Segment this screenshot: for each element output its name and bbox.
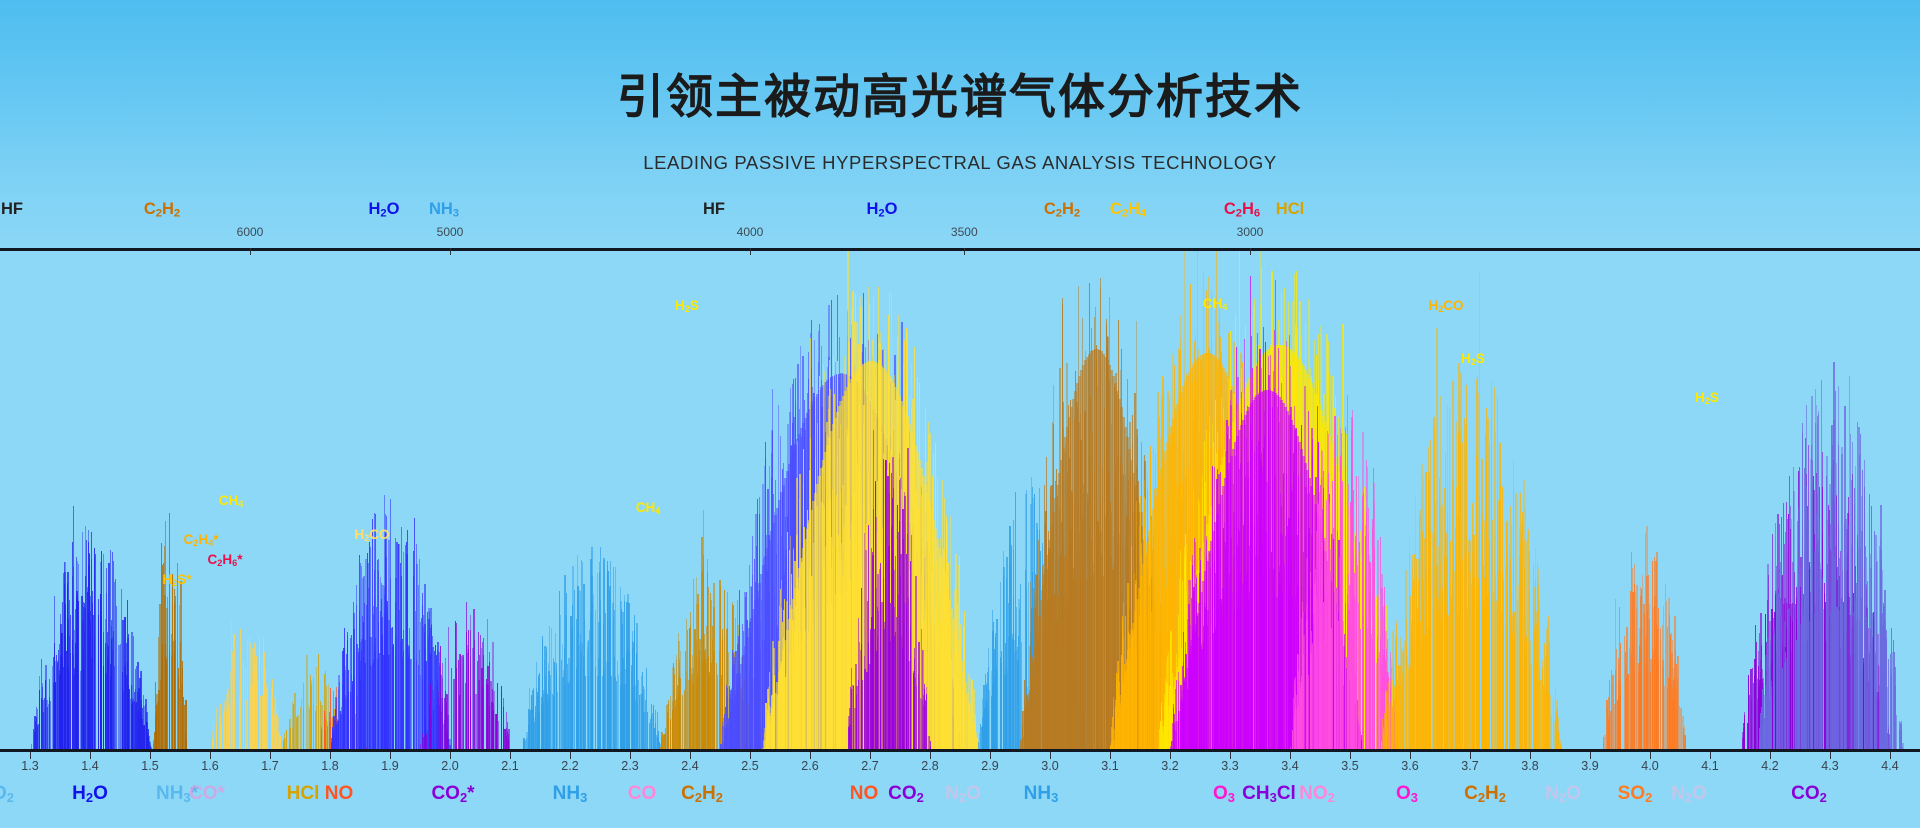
spectral-line <box>672 701 673 749</box>
spectral-line <box>583 584 585 749</box>
spectral-line <box>292 728 293 749</box>
spectral-line <box>347 700 348 749</box>
spectral-line <box>615 567 616 749</box>
spectral-line <box>105 643 106 749</box>
spectral-line <box>401 576 402 749</box>
spectral-line <box>403 552 404 749</box>
spectral-line <box>313 678 314 749</box>
spectral-line <box>472 648 474 749</box>
spectral-line <box>699 650 700 749</box>
spectral-line <box>1005 675 1007 749</box>
spectral-line <box>293 706 294 749</box>
spectral-line <box>139 694 140 749</box>
spectral-line <box>628 648 629 749</box>
spectral-line <box>387 607 388 750</box>
spectral-line <box>914 648 915 749</box>
spectral-line <box>363 622 364 750</box>
spectral-line <box>350 638 351 749</box>
spectral-line <box>101 616 102 749</box>
spectral-line <box>171 634 172 749</box>
spectral-line <box>155 723 156 749</box>
spectral-line <box>240 629 241 749</box>
spectral-line <box>220 704 221 750</box>
spectral-line <box>588 640 589 750</box>
spectral-line <box>327 726 328 749</box>
spectral-line <box>637 703 638 749</box>
spectral-line <box>378 571 379 749</box>
spectral-line <box>90 596 91 749</box>
spectral-line <box>498 721 499 749</box>
spectral-line <box>425 728 426 749</box>
spectral-line <box>696 604 697 750</box>
spectral-line <box>289 729 291 749</box>
spectral-line <box>54 695 56 749</box>
spectral-line <box>369 658 370 749</box>
spectral-line <box>429 723 430 749</box>
spectral-line <box>1001 651 1002 749</box>
spectral-line <box>674 668 675 749</box>
spectral-line <box>506 712 507 749</box>
spectral-line <box>423 615 424 749</box>
spectral-line <box>570 663 571 750</box>
spectral-line <box>448 627 449 749</box>
spectral-line <box>300 707 301 749</box>
spectral-line <box>482 642 483 750</box>
spectral-line <box>233 700 234 750</box>
spectral-line <box>489 652 490 750</box>
spectral-line <box>567 664 568 750</box>
spectral-line <box>70 653 71 749</box>
spectral-line <box>267 686 268 749</box>
spectral-line <box>410 659 411 749</box>
spectral-line <box>179 689 180 749</box>
spectral-line <box>303 683 304 749</box>
spectral-line <box>159 604 161 749</box>
spectral-line <box>545 676 546 749</box>
spectral-line <box>385 636 386 749</box>
spectral-line <box>418 665 419 749</box>
spectral-line <box>422 733 423 749</box>
spectral-line <box>415 611 416 749</box>
spectral-line <box>337 721 339 749</box>
spectral-line <box>556 665 557 749</box>
spectral-line <box>901 636 902 749</box>
spectral-line <box>413 638 414 749</box>
spectral-line <box>679 659 680 749</box>
spectral-line <box>535 706 536 750</box>
spectral-line <box>501 691 502 749</box>
spectral-line <box>46 700 48 750</box>
spectral-line <box>893 607 895 749</box>
spectral-line <box>463 657 464 749</box>
spectral-line <box>354 676 355 749</box>
spectral-line <box>34 716 36 749</box>
spectra-chart: 60005000400035003000 1.31.41.51.61.71.81… <box>0 200 1920 828</box>
spectral-line <box>646 668 647 749</box>
spectral-line <box>861 658 862 749</box>
header: 引领主被动高光谱气体分析技术 LEADING PASSIVE HYPERSPEC… <box>0 0 1920 200</box>
spectral-line <box>143 725 145 750</box>
spectral-line <box>227 689 229 749</box>
spectral-line <box>924 684 925 749</box>
spectral-line <box>693 685 694 750</box>
spectral-line <box>44 698 45 749</box>
spectral-line <box>231 645 232 749</box>
spectral-line <box>283 740 284 749</box>
spectral-line <box>653 715 654 749</box>
spectral-line <box>664 735 665 749</box>
spectral-line <box>466 602 467 749</box>
spectral-line <box>67 587 68 749</box>
spectral-line <box>687 630 688 749</box>
spectral-line <box>658 738 659 750</box>
spectral-line <box>114 666 115 749</box>
spectral-line <box>533 696 534 749</box>
spectral-line <box>340 711 341 749</box>
spectral-line <box>247 640 248 749</box>
spectral-line <box>172 655 173 749</box>
spectral-line <box>252 671 253 749</box>
spectral-line <box>593 594 594 749</box>
spectral-line <box>878 611 879 749</box>
spectral-line <box>263 655 264 749</box>
spectral-line <box>707 572 708 750</box>
spectral-line <box>85 609 86 749</box>
spectral-line <box>125 663 126 749</box>
spectral-line <box>271 699 272 749</box>
spectral-line <box>618 675 619 749</box>
spectral-line <box>374 570 375 749</box>
spectral-line <box>461 656 462 749</box>
spectral-line <box>982 725 983 749</box>
spectral-line <box>600 619 601 749</box>
spectral-line <box>1009 526 1011 749</box>
spectral-line <box>49 697 50 749</box>
spectral-line <box>458 660 459 749</box>
spectral-line <box>169 513 170 749</box>
spectral-line <box>717 675 718 749</box>
spectral-line <box>382 634 383 749</box>
spectral-line <box>508 740 509 749</box>
spectral-line <box>257 678 258 749</box>
spectral-line <box>388 540 390 750</box>
spectral-line <box>560 615 561 750</box>
spectral-line <box>115 579 116 749</box>
spectral-line <box>329 722 330 749</box>
spectral-line <box>121 589 122 749</box>
spectral-line <box>853 686 854 749</box>
spectral-line <box>395 602 396 749</box>
spectral-line <box>216 724 217 749</box>
spectral-line <box>868 643 869 749</box>
spectral-line <box>77 561 78 749</box>
spectral-line <box>496 714 497 749</box>
spectral-line <box>539 673 540 749</box>
spectral-line <box>92 591 93 749</box>
spectral-line <box>650 719 651 749</box>
spectral-line <box>161 654 163 749</box>
spectral-line <box>148 733 149 749</box>
spectral-line <box>127 678 128 749</box>
spectral-line <box>456 623 457 749</box>
spectral-line <box>548 701 549 749</box>
spectral-line <box>88 614 89 749</box>
spectral-line <box>311 685 312 749</box>
spectral-line <box>541 697 543 749</box>
spectral-line <box>285 738 286 750</box>
spectral-line <box>352 685 353 749</box>
spectral-line <box>988 710 989 749</box>
spectral-line <box>212 742 214 749</box>
spectral-line <box>647 712 648 750</box>
spectral-line <box>356 605 357 749</box>
spectral-line <box>551 628 552 750</box>
spectral-line <box>571 628 572 749</box>
spectral-line <box>447 694 448 749</box>
spectral-line <box>63 573 64 749</box>
spectral-line <box>275 695 276 750</box>
spectral-line <box>523 738 525 749</box>
spectral-line <box>131 704 133 750</box>
spectral-line <box>689 628 691 749</box>
spectral-line <box>333 733 334 749</box>
spectral-line <box>906 656 907 749</box>
spectral-line <box>920 698 921 749</box>
spectral-line <box>576 667 577 749</box>
spectral-line <box>667 712 668 749</box>
spectral-line <box>985 717 986 749</box>
spectral-line <box>480 635 481 749</box>
spectral-line <box>1016 650 1017 749</box>
spectral-line <box>1019 609 1020 749</box>
spectral-line <box>332 738 333 749</box>
spectral-line <box>885 460 887 749</box>
poster-root: 引领主被动高光谱气体分析技术 LEADING PASSIVE HYPERSPEC… <box>0 0 1920 828</box>
spectral-line <box>873 430 874 750</box>
spectral-line <box>870 629 871 749</box>
spectral-line <box>911 535 912 749</box>
spectral-line <box>59 644 60 750</box>
spectral-line <box>174 603 175 749</box>
spectral-line <box>916 686 917 749</box>
spectral-line <box>37 709 38 749</box>
spectral-line <box>259 642 260 749</box>
spectral-line <box>564 686 565 749</box>
spectral-line <box>468 649 469 749</box>
spectral-line <box>670 719 671 749</box>
spectral-line <box>580 651 582 749</box>
spectral-line <box>431 716 432 749</box>
spectral-line <box>185 732 186 749</box>
spectral-line <box>433 710 434 749</box>
spectral-line <box>279 736 281 749</box>
spectral-line <box>595 610 596 749</box>
spectral-line <box>572 605 573 749</box>
spectral-line <box>1000 657 1001 749</box>
spectral-line <box>39 690 40 749</box>
spectral-line <box>442 663 443 750</box>
spectral-line <box>64 572 66 749</box>
spectral-line <box>42 683 43 749</box>
spectral-line <box>73 675 75 749</box>
spectral-line <box>651 716 652 750</box>
spectral-line <box>249 637 250 749</box>
spectral-line <box>553 658 554 749</box>
spectral-line <box>493 703 494 749</box>
spectral-line <box>621 609 622 749</box>
spectral-line <box>881 602 883 749</box>
spectral-line <box>297 716 298 749</box>
spectral-line <box>633 687 634 749</box>
spectral-line <box>60 686 62 749</box>
spectral-line <box>574 590 575 749</box>
spectra-plot-area <box>0 251 1920 749</box>
spectral-line <box>702 662 704 749</box>
spectral-line <box>978 742 979 750</box>
spectral-line <box>875 481 876 749</box>
spectral-line <box>243 676 244 749</box>
spectral-line <box>175 640 176 749</box>
spectral-line <box>537 692 538 749</box>
spectral-line <box>682 695 683 749</box>
spectral-line <box>609 618 611 749</box>
spectral-line <box>605 613 606 749</box>
spectral-line <box>453 679 455 750</box>
spectral-line <box>406 645 408 749</box>
spectral-line <box>992 631 994 749</box>
spectral-line <box>607 561 608 749</box>
spectral-line <box>474 640 475 749</box>
spectral-line <box>624 691 625 749</box>
spectral-line <box>1015 633 1016 749</box>
spectral-line <box>603 560 605 749</box>
spectral-line <box>113 631 114 749</box>
spectral-line <box>996 672 997 749</box>
spectral-line <box>140 671 141 749</box>
page-title: 引领主被动高光谱气体分析技术 <box>0 58 1920 127</box>
spectral-line <box>110 664 112 749</box>
spectral-line <box>252 648 254 750</box>
spectral-line <box>611 676 612 749</box>
spectral-line <box>154 732 155 749</box>
spectral-line <box>439 705 440 749</box>
spectral-line <box>166 665 167 749</box>
spectral-line <box>316 706 317 749</box>
spectral-line <box>360 680 361 749</box>
spectral-line <box>379 653 380 749</box>
spectral-line <box>851 689 852 749</box>
spectral-line <box>120 644 121 749</box>
spectral-line <box>136 666 137 749</box>
spectral-line <box>714 650 715 749</box>
spectral-line <box>529 727 530 749</box>
spectral-line <box>889 493 890 749</box>
page-subtitle: LEADING PASSIVE HYPERSPECTRAL GAS ANALYS… <box>0 152 1920 174</box>
spectral-line <box>392 646 394 749</box>
spectral-line <box>81 596 83 749</box>
spectral-line <box>685 651 686 749</box>
spectral-line <box>390 578 391 749</box>
spectral-line <box>95 554 96 749</box>
spectral-line <box>321 729 322 749</box>
spectral-line <box>182 661 183 749</box>
spectral-line <box>308 705 309 749</box>
spectral-line <box>641 694 642 749</box>
spectral-line <box>898 594 899 749</box>
spectral-line <box>710 600 712 749</box>
spectral-line <box>475 694 477 749</box>
spectral-line <box>720 666 721 750</box>
spectral-line <box>854 708 856 749</box>
spectral-line <box>364 663 366 749</box>
spectral-line <box>409 628 410 749</box>
spectral-line <box>243 661 244 749</box>
spectral-line <box>926 687 927 750</box>
spectral-line <box>708 678 709 749</box>
